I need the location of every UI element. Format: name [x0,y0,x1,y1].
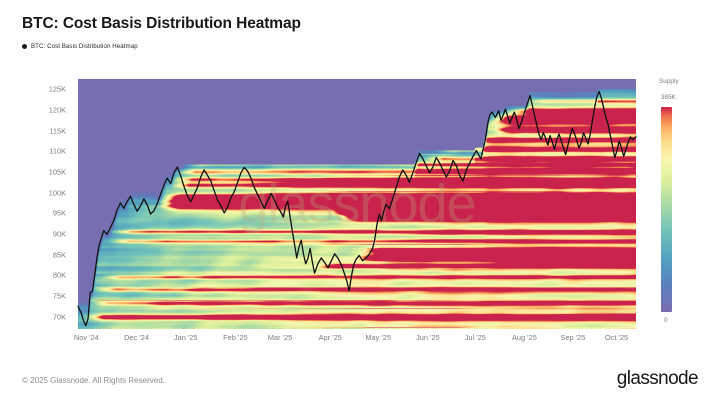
x-axis-tick: Mar '25 [268,333,292,342]
brand-logo: glassnode [617,368,698,390]
y-axis-tick: 120K [49,105,66,114]
colorbar-gradient [661,107,672,312]
y-axis-tick: 110K [49,147,66,156]
x-axis-tick: Jan '25 [174,333,198,342]
x-axis-tick: Aug '25 [512,333,537,342]
x-axis-tick: Oct '25 [605,333,628,342]
x-axis-tick: Jun '25 [416,333,440,342]
y-axis-tick: 105K [49,167,66,176]
x-axis-tick: Nov '24 [74,333,99,342]
x-axis-tick: Apr '25 [319,333,342,342]
x-axis-tick: Sep '25 [561,333,586,342]
x-axis-tick: May '25 [365,333,391,342]
plot-area[interactable]: glassnode [78,79,636,329]
y-axis-tick: 115K [49,126,66,135]
y-axis-tick: 125K [49,85,66,94]
footer-copyright: © 2025 Glassnode. All Rights Reserved. [22,376,165,385]
x-axis-tick: Feb '25 [223,333,247,342]
y-axis-tick: 100K [49,188,66,197]
x-axis: Nov '24Dec '24Jan '25Feb '25Mar '25Apr '… [78,333,636,353]
legend-label: BTC: Cost Basis Distribution Heatmap [31,43,138,50]
legend-dot-icon [22,44,27,49]
btc-price-line [78,91,636,325]
y-axis-tick: 70K [53,312,66,321]
page-title: BTC: Cost Basis Distribution Heatmap [22,15,301,33]
series-legend[interactable]: BTC: Cost Basis Distribution Heatmap [22,43,138,50]
price-line-chart [78,79,636,329]
y-axis-tick: 90K [53,229,66,238]
colorbar: Supply 385K 0 [655,79,715,335]
y-axis-tick: 75K [53,291,66,300]
x-axis-tick: Jul '25 [465,333,486,342]
y-axis-tick: 80K [53,271,66,280]
y-axis-tick: 95K [53,209,66,218]
y-axis: 125K120K115K110K105K100K95K90K85K80K75K7… [0,79,72,329]
colorbar-min-label: 0 [664,317,668,324]
y-axis-tick: 85K [53,250,66,259]
colorbar-max-label: 385K [661,94,676,101]
x-axis-tick: Dec '24 [124,333,149,342]
chart-card: BTC: Cost Basis Distribution Heatmap BTC… [0,0,720,405]
colorbar-title: Supply [659,78,679,85]
